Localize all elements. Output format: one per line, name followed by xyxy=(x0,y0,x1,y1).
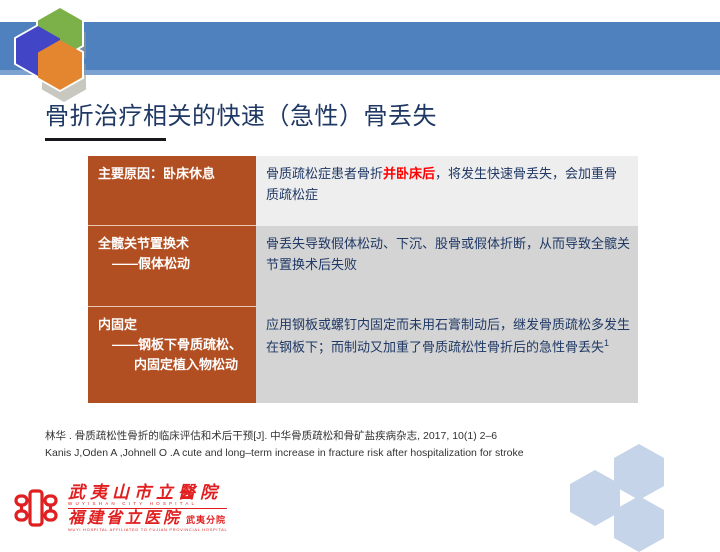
header-banner-underline xyxy=(0,70,720,75)
hexagon-decor-icon xyxy=(570,470,620,526)
table-row-label-main: 内固定 xyxy=(98,317,137,332)
table-row-label-sub: ——假体松动 xyxy=(98,254,246,274)
table-row-label: 全髋关节置换术 ——假体松动 xyxy=(88,226,256,307)
content-table: 主要原因：卧床休息 骨质疏松症患者骨折并卧床后，将发生快速骨丢失，会加重骨质疏松… xyxy=(88,156,638,403)
table-row-body: 应用钢板或螺钉内固定而未用石膏制动后，继发骨质疏松多发生在钢板下；而制动又加重了… xyxy=(256,307,638,403)
hexagon-decor-icon xyxy=(614,496,664,552)
title-underline xyxy=(45,138,166,141)
reference-line-1: 林华 . 骨质疏松性骨折的临床评估和术后干预[J]. 中华骨质疏松和骨矿盐疾病杂… xyxy=(45,428,665,445)
body-text-lead: 骨丢失导致假体松动、下沉、股骨或假体折断，从而导致全髋关节置换术后失败 xyxy=(266,236,630,272)
hospital-name-en-2: WUYI HOSPITAL AFFILIATED TO FUJIAN PROVI… xyxy=(68,528,227,532)
table-row-label: 主要原因：卧床休息 xyxy=(88,156,256,226)
table-row: 内固定 ——钢板下骨质疏松、 内固定植入物松动 应用钢板或螺钉内固定而未用石膏制… xyxy=(88,307,638,403)
table-row-label-main: 主要原因：卧床休息 xyxy=(98,166,215,181)
table-row-label-main: 全髋关节置换术 xyxy=(98,236,189,251)
table-row-label-sub2: 内固定植入物松动 xyxy=(98,355,246,375)
hexagon-cluster-logo xyxy=(14,8,94,86)
hospital-logo-text: 武夷山市立醫院 WUYISHAN CITY HOSPITAL 福建省立医院 武夷… xyxy=(68,484,227,532)
table-row-label-sub: ——钢板下骨质疏松、 xyxy=(98,335,246,355)
reference-line-2: Kanis J,Oden A ,Johnell O .A cute and lo… xyxy=(45,445,665,462)
table-row-body: 骨质疏松症患者骨折并卧床后，将发生快速骨丢失，会加重骨质疏松症 xyxy=(256,156,638,226)
body-text-highlight: 并卧床后 xyxy=(383,166,435,181)
table-row: 主要原因：卧床休息 骨质疏松症患者骨折并卧床后，将发生快速骨丢失，会加重骨质疏松… xyxy=(88,156,638,226)
hospital-emblem-icon xyxy=(10,486,62,530)
header-banner xyxy=(0,22,720,70)
body-text-lead: 应用钢板或螺钉内固定而未用石膏制动后，继发骨质疏松多发生在钢板下；而制动又加重了… xyxy=(266,317,630,354)
hospital-name-cn-1: 武夷山市立醫院 xyxy=(68,484,227,501)
hospital-branch-name: 武夷分院 xyxy=(186,516,226,525)
references: 林华 . 骨质疏松性骨折的临床评估和术后干预[J]. 中华骨质疏松和骨矿盐疾病杂… xyxy=(45,428,665,463)
table-row-body: 骨丢失导致假体松动、下沉、股骨或假体折断，从而导致全髋关节置换术后失败 xyxy=(256,226,638,307)
hospital-name-cn-2: 福建省立医院 xyxy=(68,511,182,527)
hospital-name-en-1: WUYISHAN CITY HOSPITAL xyxy=(68,502,227,509)
body-text-superscript: 1 xyxy=(604,338,609,348)
body-text-lead: 骨质疏松症患者骨折 xyxy=(266,166,383,181)
page-title: 骨折治疗相关的快速（急性）骨丢失 xyxy=(45,96,437,131)
hospital-logo: 武夷山市立醫院 WUYISHAN CITY HOSPITAL 福建省立医院 武夷… xyxy=(10,484,227,532)
table-row: 全髋关节置换术 ——假体松动 骨丢失导致假体松动、下沉、股骨或假体折断，从而导致… xyxy=(88,226,638,307)
table-row-label: 内固定 ——钢板下骨质疏松、 内固定植入物松动 xyxy=(88,307,256,403)
